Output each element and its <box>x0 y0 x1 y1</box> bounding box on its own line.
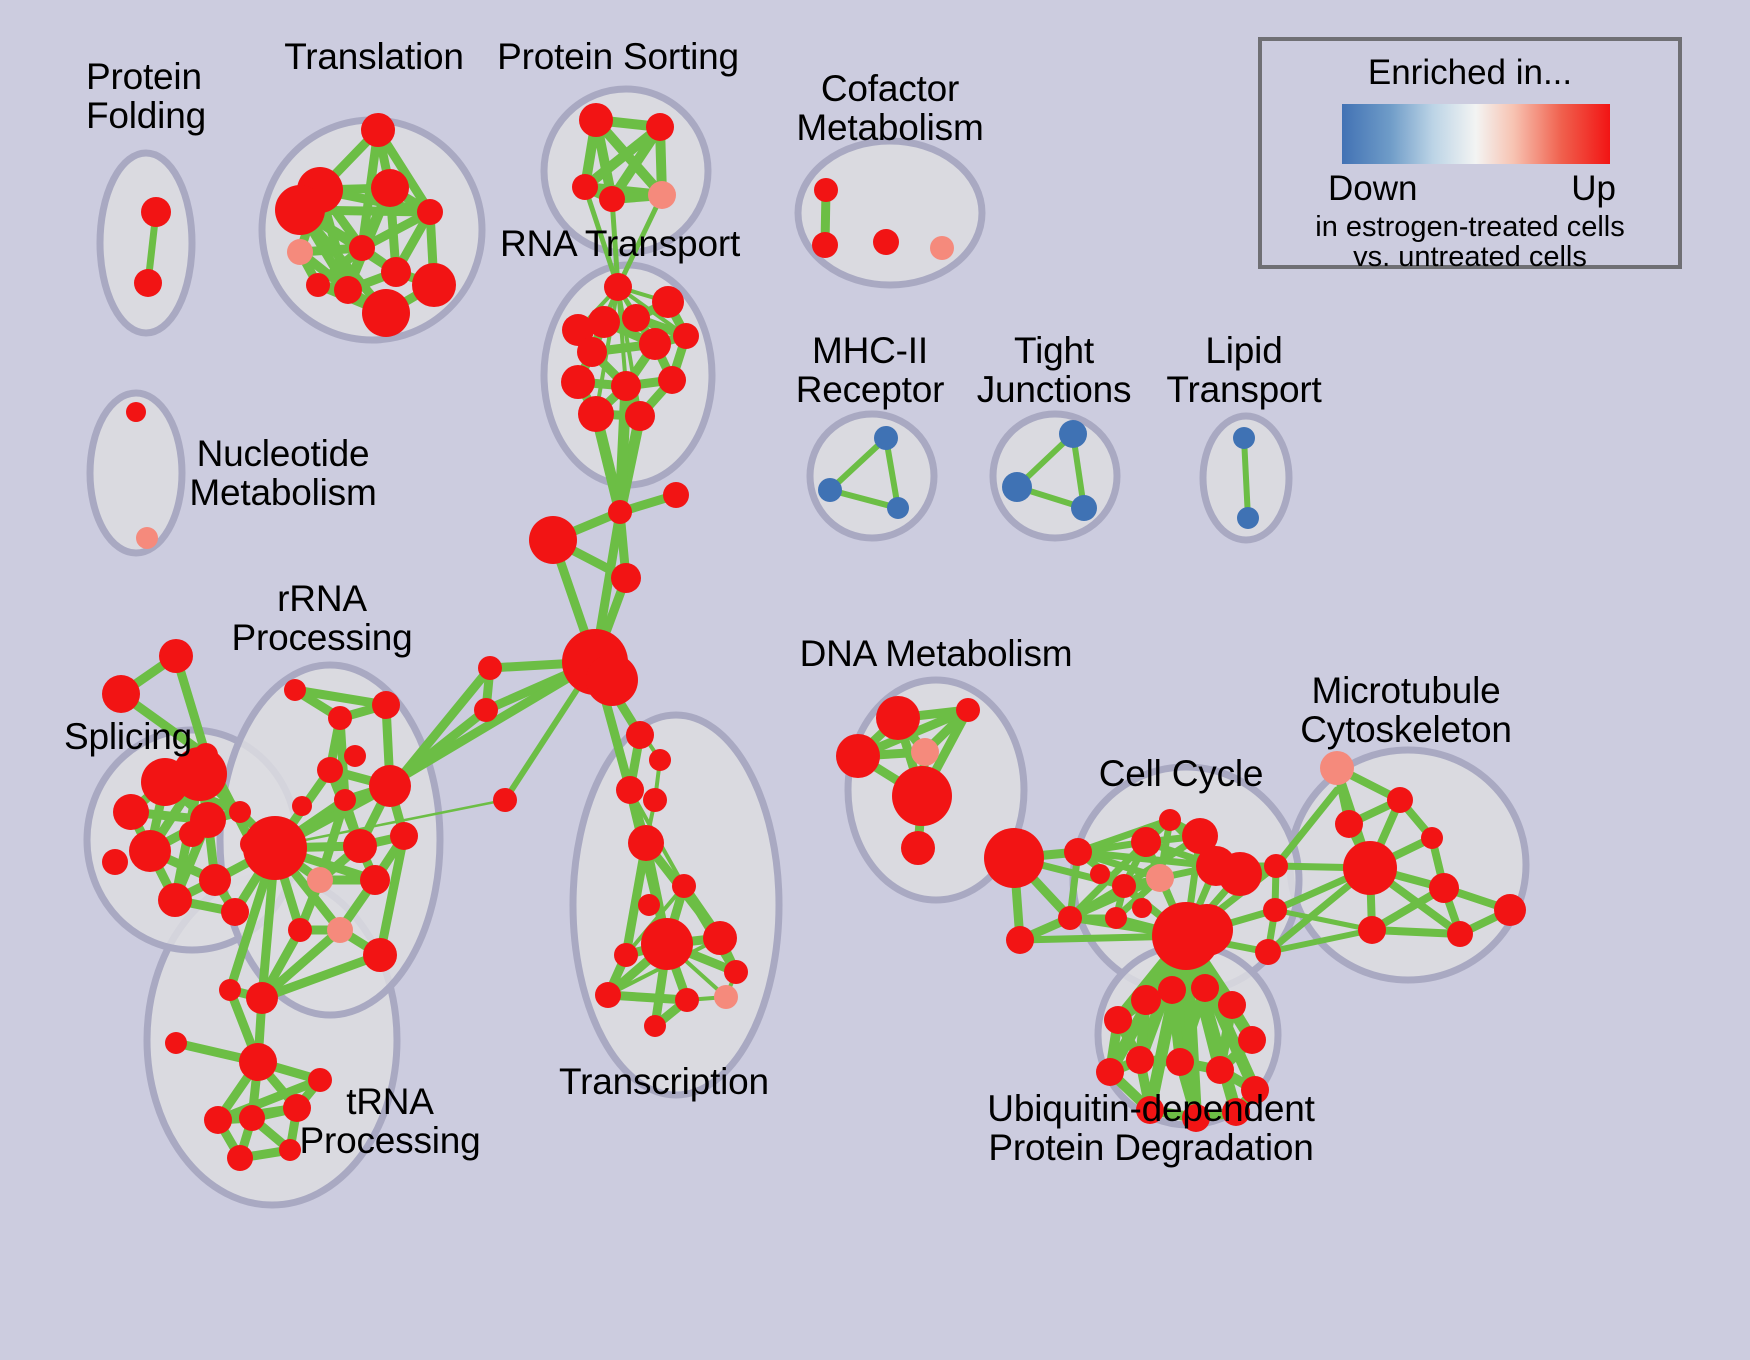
cluster-label-cofactor-metabolism: Cofactor Metabolism <box>796 70 983 148</box>
cluster-label-mhc-ii-receptor: MHC-II Receptor <box>796 332 945 410</box>
cluster-label-trna-processing: tRNA Processing <box>299 1083 480 1161</box>
legend-up-label: Up <box>1571 169 1616 209</box>
cluster-label-transcription: Transcription <box>559 1063 769 1102</box>
cluster-label-splicing: Splicing <box>64 718 192 757</box>
cluster-label-translation: Translation <box>284 38 463 77</box>
legend-subtitle-line1: in estrogen-treated cells <box>1262 211 1678 244</box>
cluster-label-protein-sorting: Protein Sorting <box>497 38 739 77</box>
legend-down-label: Down <box>1328 169 1417 209</box>
cluster-label-nucleotide-metabolism: Nucleotide Metabolism <box>189 435 376 513</box>
cluster-label-tight-junctions: Tight Junctions <box>977 332 1132 410</box>
cluster-label-lipid-transport: Lipid Transport <box>1166 332 1321 410</box>
cluster-label-dna-metabolism: DNA Metabolism <box>800 635 1073 674</box>
cluster-label-ubiquitin-degradation: Ubiquitin-dependent Protein Degradation <box>987 1090 1314 1168</box>
cluster-label-protein-folding: Protein Folding <box>86 58 206 136</box>
cluster-label-rna-transport: RNA Transport <box>500 225 740 264</box>
hull-protein-folding <box>100 153 192 333</box>
hull-mhc-ii <box>810 414 934 538</box>
cluster-label-microtubule-cytoskeleton: Microtubule Cytoskeleton <box>1300 672 1512 750</box>
cluster-label-cell-cycle: Cell Cycle <box>1099 755 1264 794</box>
enrichment-network-figure: Protein FoldingTranslationProtein Sortin… <box>0 0 1750 1360</box>
legend-title: Enriched in... <box>1262 53 1678 93</box>
cluster-label-rrna-processing: rRNA Processing <box>231 580 412 658</box>
legend-box: Enriched in... Down Up in estrogen-treat… <box>1258 37 1682 269</box>
legend-color-gradient <box>1342 104 1610 164</box>
legend-subtitle-line2: vs. untreated cells <box>1262 241 1678 274</box>
